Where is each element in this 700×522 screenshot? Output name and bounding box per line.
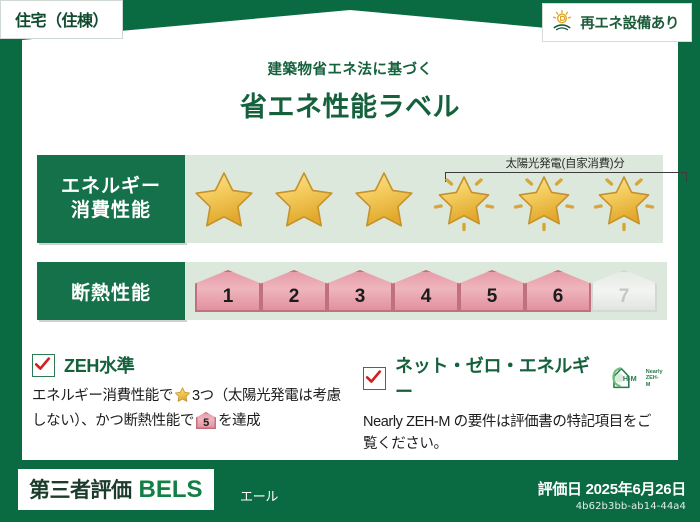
- zeh-standard-title: ZEH水準: [64, 352, 135, 378]
- insulation-badge-value: 5: [487, 286, 498, 312]
- star-1: [191, 166, 257, 232]
- zeh-m-house-icon: H-M: [610, 365, 644, 391]
- page-title: 省エネ性能ラベル: [0, 85, 700, 124]
- evaluation-date: 評価日 2025年6月26日: [538, 478, 686, 499]
- inline-house-badge: 5: [196, 412, 216, 429]
- title-subtitle: 建築物省エネ法に基づく: [0, 58, 700, 79]
- evaluation-id: 4b62b3bb-ab14-44a4: [538, 501, 686, 512]
- bels-logo-text: BELS: [139, 476, 203, 504]
- net-zero-energy-header: ネット・ゼロ・エネルギー H-M Nearly ZEH-M: [363, 352, 663, 404]
- energy-label-line2: 消費性能: [71, 199, 151, 223]
- sun-solar-icon: [551, 9, 573, 36]
- inline-star-icon: [174, 391, 191, 407]
- star-5-solar: [511, 166, 577, 232]
- insulation-badge-value: 7: [619, 286, 630, 312]
- insulation-badge-6: 6: [525, 270, 591, 312]
- energy-performance-label-card: 住宅（住棟） 再エネ設備あり 建築物省エネ法に基づく 省エネ性能ラベル: [0, 0, 700, 522]
- svg-text:H-M: H-M: [623, 374, 637, 383]
- star-2: [271, 166, 337, 232]
- category-tag: 住宅（住棟）: [0, 0, 123, 39]
- insulation-badge-7: 7: [591, 270, 657, 312]
- zeh-standard-checkbox[interactable]: [32, 354, 55, 377]
- insulation-badge-value: 1: [223, 286, 234, 312]
- insulation-badge-2: 2: [261, 270, 327, 312]
- star-4-solar: [431, 166, 497, 232]
- zeh-standard-description: エネルギー消費性能で3つ（太陽光発電は考慮しない）、かつ断熱性能で5を達成: [32, 385, 348, 432]
- insulation-badge-4: 4: [393, 270, 459, 312]
- energy-performance-row: エネルギー 消費性能 太陽光発電(自家消費)分: [37, 155, 663, 243]
- insulation-badge-value: 6: [553, 286, 564, 312]
- star-6-solar: [591, 166, 657, 232]
- zeh-m-logo: H-M Nearly ZEH-M: [610, 365, 663, 391]
- net-zero-energy-title: ネット・ゼロ・エネルギー: [395, 352, 596, 404]
- energy-performance-label: エネルギー 消費性能: [37, 155, 185, 243]
- zeh-desc-part1: エネルギー消費性能で: [32, 388, 173, 404]
- footer-evaluation-info: 評価日 2025年6月26日 4b62b3bb-ab14-44a4: [538, 478, 686, 512]
- title-block: 建築物省エネ法に基づく 省エネ性能ラベル: [0, 58, 700, 124]
- zeh-m-sub-line1: Nearly: [646, 369, 663, 375]
- zeh-standard-header: ZEH水準: [32, 352, 348, 378]
- insulation-performance-row: 断熱性能 1 2 3 4 5: [37, 262, 663, 320]
- insulation-badge-5: 5: [459, 270, 525, 312]
- checkmark-icon: [34, 356, 51, 373]
- checkmark-icon: [365, 369, 382, 386]
- star-3: [351, 166, 417, 232]
- net-zero-energy-checkbox[interactable]: [363, 367, 386, 390]
- insulation-badge-value: 4: [421, 286, 432, 312]
- insulation-label-text: 断熱性能: [71, 278, 151, 305]
- renewable-badge-label: 再エネ設備あり: [580, 12, 679, 33]
- bels-kana-reading: エール: [240, 486, 278, 505]
- zeh-m-logo-subtext: Nearly ZEH-M: [646, 369, 663, 391]
- energy-stars-area: 太陽光発電(自家消費)分: [185, 155, 663, 243]
- inline-house-value: 5: [196, 418, 216, 429]
- insulation-badge-value: 3: [355, 286, 366, 312]
- zeh-m-sub-line2: ZEH-M: [646, 375, 659, 387]
- bels-certification-box: 第三者評価 BELS: [18, 469, 214, 510]
- insulation-performance-label: 断熱性能: [37, 262, 185, 320]
- insulation-badge-3: 3: [327, 270, 393, 312]
- renewable-equipment-badge: 再エネ設備あり: [542, 3, 692, 42]
- insulation-badge-1: 1: [195, 270, 261, 312]
- net-zero-energy-section: ネット・ゼロ・エネルギー H-M Nearly ZEH-M Nearly ZEH…: [363, 352, 663, 455]
- zeh-standard-section: ZEH水準 エネルギー消費性能で3つ（太陽光発電は考慮しない）、かつ断熱性能で5…: [32, 352, 348, 432]
- insulation-badges-area: 1 2 3 4 5 6 7: [185, 262, 667, 320]
- energy-label-line1: エネルギー: [61, 175, 161, 199]
- bels-japanese-label: 第三者評価: [29, 474, 132, 504]
- insulation-badge-value: 2: [289, 286, 300, 312]
- net-zero-energy-description: Nearly ZEH-M の要件は評価書の特記項目をご覧ください。: [363, 411, 663, 455]
- zeh-desc-part3: を達成: [218, 413, 260, 429]
